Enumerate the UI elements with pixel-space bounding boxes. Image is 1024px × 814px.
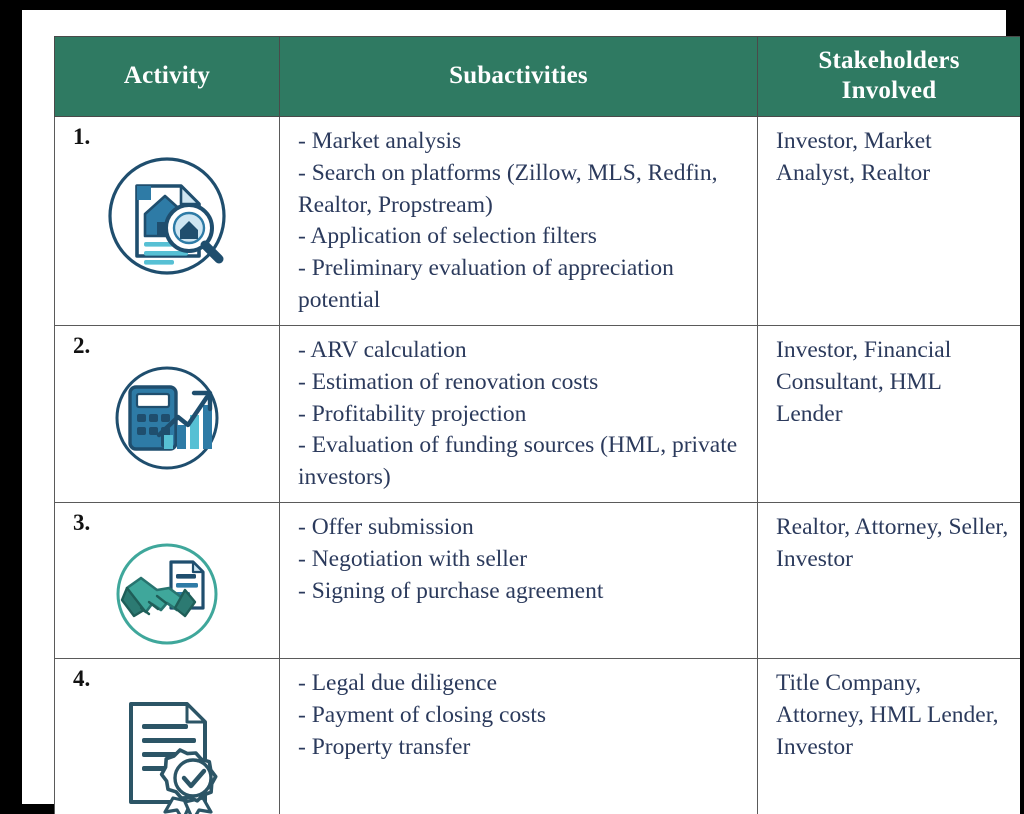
subactivities-cell: - ARV calculation - Estimation of renova… [280, 325, 758, 502]
column-header-stakeholders-line1: Stakeholders [818, 47, 959, 74]
subactivity-line: - Negotiation with seller [298, 544, 747, 576]
column-header-activity: Activity [55, 37, 280, 117]
subactivity-line: - Property transfer [298, 732, 747, 764]
subactivity-line: - ARV calculation [298, 335, 747, 367]
subactivities-cell: - Market analysis - Search on platforms … [280, 117, 758, 326]
table-body: 1. [55, 117, 1021, 814]
column-header-stakeholders: Stakeholders Involved [758, 37, 1021, 117]
subactivity-line: - Evaluation of funding sources (HML, pr… [298, 430, 747, 494]
subactivity-line: - Search on platforms (Zillow, MLS, Redf… [298, 158, 747, 222]
activity-cell: 1. [55, 117, 280, 326]
subactivity-line: - Estimation of renovation costs [298, 367, 747, 399]
row-number: 2. [55, 330, 279, 357]
stakeholders-cell: Title Company, Attorney, HML Lender, Inv… [758, 659, 1021, 814]
row-number: 1. [55, 121, 279, 148]
column-header-subactivities: Subactivities [280, 37, 758, 117]
activity-cell: 3. [55, 503, 280, 659]
header-row: Activity Subactivities Stakeholders Invo… [55, 37, 1021, 117]
subactivity-line: - Profitability projection [298, 399, 747, 431]
subactivity-line: - Signing of purchase agreement [298, 576, 747, 608]
subactivity-line: - Application of selection filters [298, 221, 747, 253]
row-number: 3. [55, 507, 279, 534]
row-number: 4. [55, 663, 279, 690]
activity-cell: 4. [55, 659, 280, 814]
process-table: Activity Subactivities Stakeholders Invo… [54, 36, 1020, 814]
handshake-document-icon [55, 536, 279, 652]
column-header-stakeholders-line2: Involved [842, 77, 937, 104]
subactivity-line: - Offer submission [298, 512, 747, 544]
table-header: Activity Subactivities Stakeholders Invo… [55, 37, 1021, 117]
stakeholders-cell: Investor, Financial Consultant, HML Lend… [758, 325, 1021, 502]
subactivity-line: - Preliminary evaluation of appreciation… [298, 253, 747, 317]
table-row: 4. [55, 659, 1021, 814]
subactivities-cell: - Legal due diligence - Payment of closi… [280, 659, 758, 814]
process-table-container: Activity Subactivities Stakeholders Invo… [54, 36, 1020, 814]
document-paper: Activity Subactivities Stakeholders Invo… [22, 10, 1006, 804]
certificate-seal-document-icon [55, 692, 279, 814]
activity-cell: 2. [55, 325, 280, 502]
table-row: 3. [55, 503, 1021, 659]
calculator-growth-chart-icon [55, 359, 279, 477]
subactivity-line: - Legal due diligence [298, 668, 747, 700]
stakeholders-cell: Investor, Market Analyst, Realtor [758, 117, 1021, 326]
table-row: 1. [55, 117, 1021, 326]
table-row: 2. [55, 325, 1021, 502]
subactivity-line: - Payment of closing costs [298, 700, 747, 732]
subactivity-line: - Market analysis [298, 126, 747, 158]
subactivities-cell: - Offer submission - Negotiation with se… [280, 503, 758, 659]
stakeholders-cell: Realtor, Attorney, Seller, Investor [758, 503, 1021, 659]
page-background: Activity Subactivities Stakeholders Invo… [0, 0, 1024, 804]
document-house-magnifier-icon [55, 150, 279, 282]
